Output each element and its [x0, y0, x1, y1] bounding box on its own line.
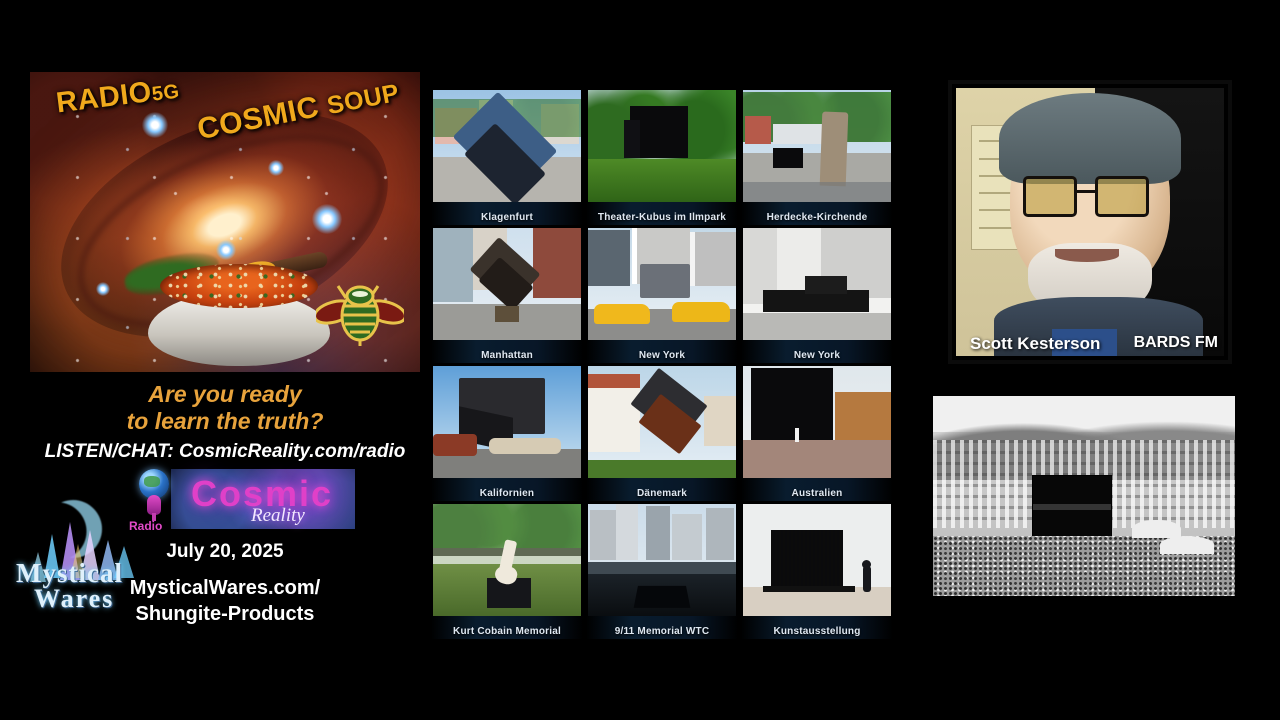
photo-caption: Dänemark — [586, 488, 738, 499]
black-cube-photo-grid: Klagenfurt Theater-Kubus im Ilmpark — [431, 88, 893, 644]
blue-star-icon — [312, 204, 342, 234]
photo-kunstausstellung — [743, 504, 891, 616]
cosmic-reality-word-sub: Reality — [251, 505, 305, 527]
canopy-umbrella-icon — [1160, 536, 1214, 554]
bee-logo-icon — [316, 282, 404, 346]
grid-cell[interactable]: Manhattan — [431, 226, 583, 363]
photo-911-memorial-wtc — [588, 504, 736, 616]
guest-panel: Scott Kesterson BARDS FM The Kaaba, Mecc… — [915, 80, 1245, 646]
beanie-hat — [999, 93, 1181, 184]
photo-caption: Kunstausstellung — [741, 626, 893, 637]
grid-cell[interactable]: 9/11 Memorial WTC — [586, 502, 738, 639]
grid-cell[interactable]: New York — [741, 226, 893, 363]
blue-star-icon — [216, 240, 236, 260]
photo-new-york-taxis — [588, 228, 736, 340]
mystical-wares-logo[interactable]: Mystical Wares — [8, 496, 158, 621]
kaaba-photo-tile[interactable]: The Kaaba, Mecca, Saudi Arabia — [925, 392, 1243, 600]
eyeglasses-bridge — [1077, 190, 1098, 193]
photo-caption: New York — [741, 350, 893, 361]
soup-surface — [160, 264, 318, 308]
photo-kurt-cobain-memorial — [433, 504, 581, 616]
show-name-label: BARDS FM — [1134, 334, 1218, 352]
soup-ingredients — [160, 264, 318, 308]
eyeglasses-right-lens — [1095, 176, 1149, 216]
photo-caption: Manhattan — [431, 350, 583, 361]
sponsor-url-line-2: Shungite-Products — [136, 603, 315, 625]
photo-new-york-smith-street — [743, 228, 891, 340]
kaaba-cube — [1033, 476, 1112, 542]
photo-kalifornien — [433, 366, 581, 478]
sponsor-url-line-1: MysticalWares.com/ — [130, 577, 320, 599]
blue-star-icon — [268, 160, 284, 176]
soup-bowl-illustration — [148, 258, 330, 366]
photo-daenemark — [588, 366, 736, 478]
photo-caption: Kalifornien — [431, 488, 583, 499]
mystical-wares-word-2: Wares — [34, 584, 114, 614]
grid-cell[interactable]: Australien — [741, 364, 893, 501]
photo-caption: Kurt Cobain Memorial — [431, 626, 583, 637]
tagline-line-1: Are you ready — [30, 381, 420, 408]
kaaba-historic-photo — [933, 396, 1235, 596]
brand-5g-word: 5G — [151, 81, 181, 106]
grid-cell[interactable]: Dänemark — [586, 364, 738, 501]
grid-cell[interactable]: New York — [586, 226, 738, 363]
photo-caption: Klagenfurt — [431, 212, 583, 223]
host-video-tile[interactable]: Scott Kesterson BARDS FM — [948, 80, 1232, 364]
grid-cell[interactable]: Herdecke-Kirchende — [741, 88, 893, 225]
blue-star-icon — [142, 112, 168, 138]
broadcast-screen: RADIO5G COSMIC SOUP — [0, 0, 1280, 720]
cosmic-soup-artwork: RADIO5G COSMIC SOUP — [30, 72, 420, 372]
grid-cell[interactable]: Kurt Cobain Memorial — [431, 502, 583, 639]
photo-caption: Theater-Kubus im Ilmpark — [586, 212, 738, 223]
grid-cell[interactable]: Theater-Kubus im Ilmpark — [586, 88, 738, 225]
photo-caption: New York — [586, 350, 738, 361]
grid-cell[interactable]: Klagenfurt — [431, 88, 583, 225]
photo-caption: Herdecke-Kirchende — [741, 212, 893, 223]
eyeglasses-left-lens — [1023, 176, 1077, 216]
photo-caption: Australien — [741, 488, 893, 499]
photo-klagenfurt — [433, 90, 581, 202]
tagline-line-2: to learn the truth? — [30, 408, 420, 435]
photo-manhattan — [433, 228, 581, 340]
show-info-panel: RADIO5G COSMIC SOUP — [30, 72, 420, 650]
listen-chat-url[interactable]: LISTEN/CHAT: CosmicReality.com/radio — [30, 441, 420, 463]
photo-australien — [743, 366, 891, 478]
photo-theater-kubus-ilmpark — [588, 90, 736, 202]
host-webcam-image — [956, 88, 1224, 356]
grid-cell[interactable]: Kalifornien — [431, 364, 583, 501]
host-name-label: Scott Kesterson — [970, 334, 1100, 354]
blue-star-icon — [96, 282, 110, 296]
photo-caption: 9/11 Memorial WTC — [586, 626, 738, 637]
grid-cell[interactable]: Kunstausstellung — [741, 502, 893, 639]
canopy-umbrella-icon — [1132, 520, 1180, 538]
photo-herdecke-kirchende — [743, 90, 891, 202]
